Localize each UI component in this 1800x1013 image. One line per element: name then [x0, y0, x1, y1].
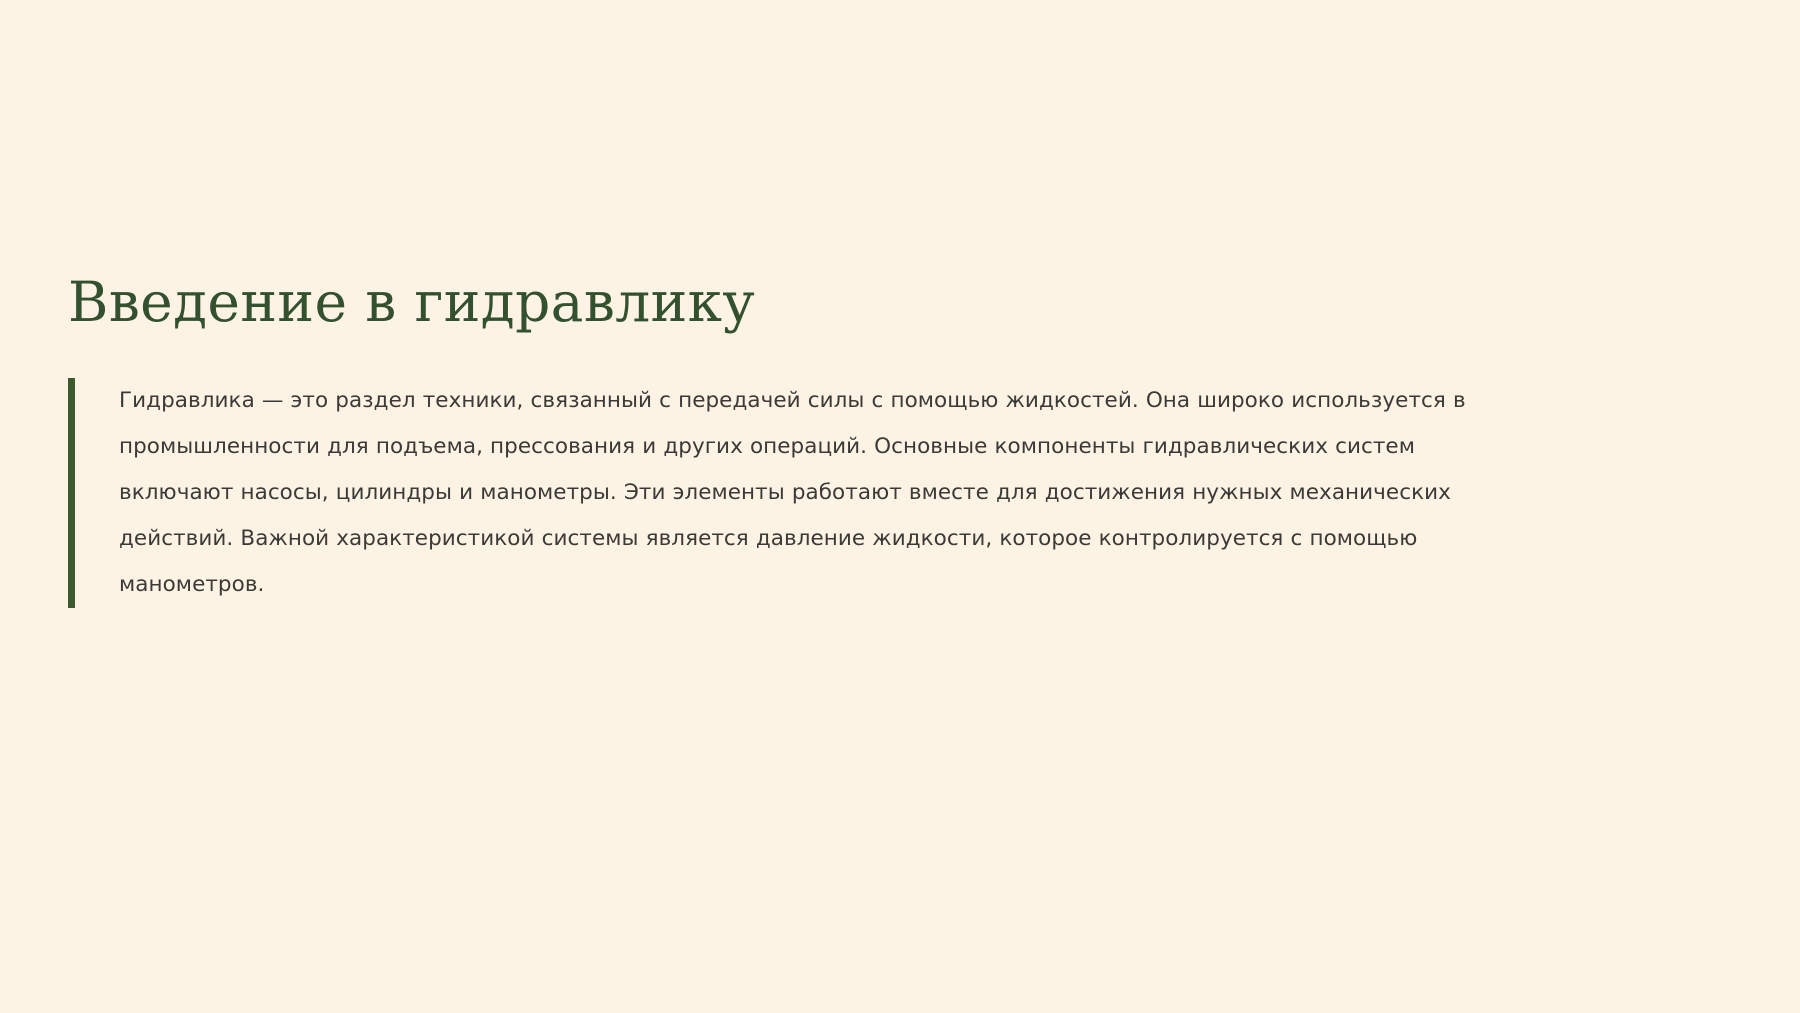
slide-content-block: Введение в гидравлику Гидравлика — это р… [68, 270, 1568, 608]
page-title: Введение в гидравлику [68, 270, 1568, 335]
accent-bar-quote-block: Гидравлика — это раздел техники, связанн… [68, 378, 1498, 608]
slide-canvas: Введение в гидравлику Гидравлика — это р… [0, 0, 1800, 1013]
body-paragraph: Гидравлика — это раздел техники, связанн… [119, 378, 1498, 608]
